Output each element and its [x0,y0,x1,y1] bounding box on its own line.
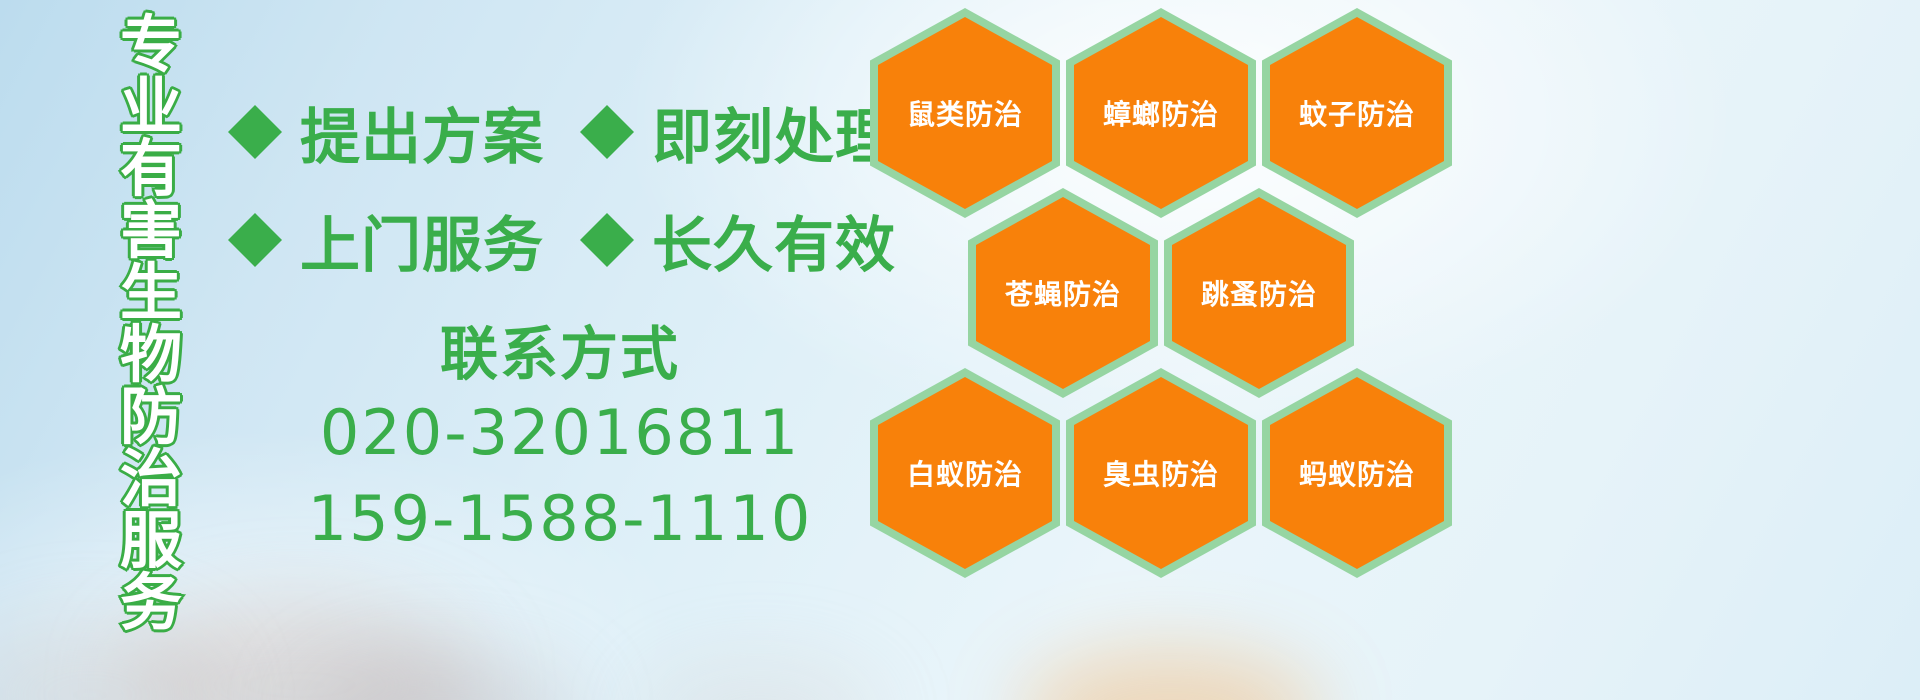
diamond-icon [580,186,634,240]
diamond-icon [228,186,282,240]
feature-item-immediate-handling: 即刻处理 [580,89,896,176]
vertical-headline-char: 服 [120,510,182,572]
vertical-headline-char: 生 [120,262,182,324]
vertical-headline-char: 治 [120,448,182,510]
phone-number-mobile[interactable]: 159-1588-1110 [300,476,820,562]
hex-cell-rodent-control[interactable]: 鼠类防治 [870,8,1060,218]
service-honeycomb: 鼠类防治 蟑螂防治 蚊子防治 苍蝇防治 跳蚤防治 [860,0,1460,560]
hex-cell-flea-control[interactable]: 跳蚤防治 [1164,188,1354,398]
hex-cell-termite-control[interactable]: 白蚁防治 [870,368,1060,578]
vertical-headline-char: 物 [120,324,182,386]
vertical-headline-char: 防 [120,386,182,448]
hex-label: 蚂蚁防治 [1299,453,1415,493]
vertical-headline-char: 专 [120,14,182,76]
feature-label: 上门服务 [300,197,544,284]
diamond-icon [580,78,634,132]
vertical-headline: 专 业 有 害 生 物 防 治 服 务 [104,14,198,574]
hex-label: 蟑螂防治 [1103,93,1219,133]
promo-banner: 专 业 有 害 生 物 防 治 服 务 提出方案 即刻处理 上门服务 [0,0,1920,700]
hex-cell-cockroach-control[interactable]: 蟑螂防治 [1066,8,1256,218]
feature-item-onsite-service: 上门服务 [228,197,544,284]
hex-label: 鼠类防治 [907,93,1023,133]
feature-list: 提出方案 即刻处理 上门服务 长久有效 [228,78,868,294]
vertical-headline-char: 害 [120,200,182,262]
background-blur-artifact [640,660,880,700]
background-blur-artifact [300,655,580,700]
feature-row: 上门服务 长久有效 [228,186,868,294]
hex-label: 臭虫防治 [1103,453,1219,493]
vertical-headline-char: 有 [120,138,182,200]
hex-label: 跳蚤防治 [1201,273,1317,313]
hex-label: 白蚁防治 [907,453,1023,493]
hex-cell-mosquito-control[interactable]: 蚊子防治 [1262,8,1452,218]
hex-label: 苍蝇防治 [1005,273,1121,313]
hex-cell-bedbug-control[interactable]: 臭虫防治 [1066,368,1256,578]
contact-block: 联系方式 020-32016811 159-1588-1110 [300,318,820,562]
background-blur-artifact [0,620,220,700]
contact-heading: 联系方式 [300,318,820,390]
feature-row: 提出方案 即刻处理 [228,78,868,186]
vertical-headline-char: 业 [120,76,182,138]
hex-label: 蚊子防治 [1299,93,1415,133]
hex-cell-ant-control[interactable]: 蚂蚁防治 [1262,368,1452,578]
diamond-icon [228,78,282,132]
feature-item-long-lasting: 长久有效 [580,197,896,284]
background-blur-artifact [1020,650,1320,700]
vertical-headline-char: 务 [120,572,182,634]
feature-item-propose-plan: 提出方案 [228,89,544,176]
hex-cell-fly-control[interactable]: 苍蝇防治 [968,188,1158,398]
feature-label: 提出方案 [300,89,544,176]
phone-number-landline[interactable]: 020-32016811 [300,390,820,476]
